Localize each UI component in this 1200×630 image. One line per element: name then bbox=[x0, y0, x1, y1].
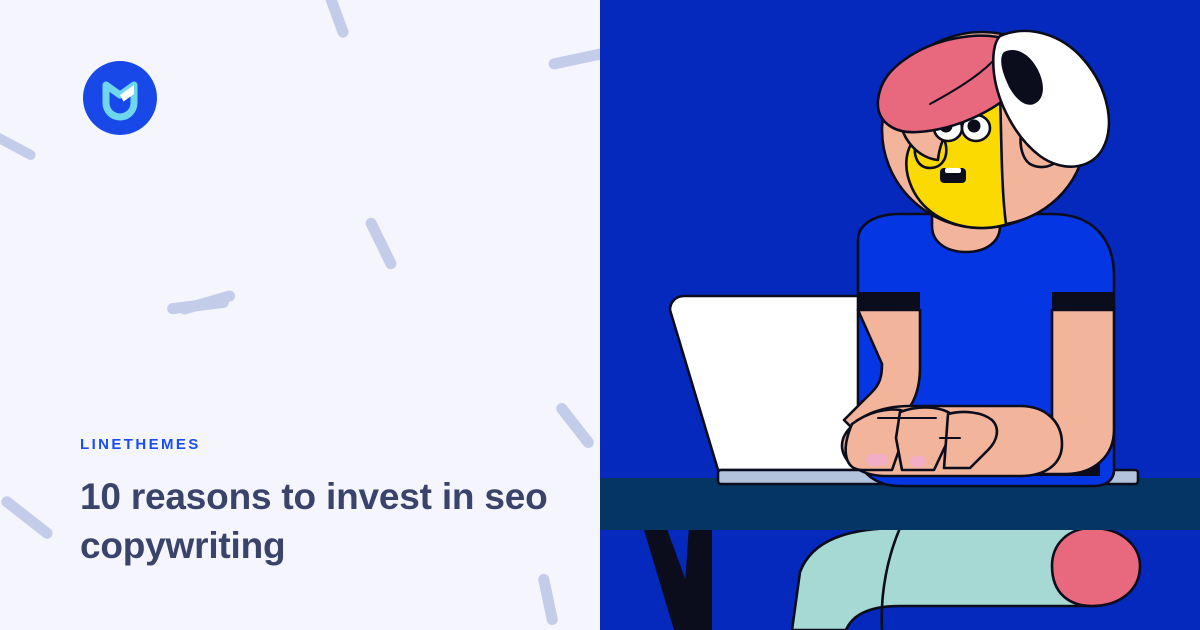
person-shoe bbox=[1052, 528, 1140, 606]
social-share-card: LINETHEMES 10 reasons to invest in seo c… bbox=[0, 0, 1200, 630]
person-hands bbox=[842, 406, 1062, 476]
illustration-panel bbox=[600, 0, 1200, 630]
headline-block: LINETHEMES 10 reasons to invest in seo c… bbox=[80, 437, 550, 570]
dash-top-right bbox=[548, 45, 600, 71]
brand-eyebrow-label: LINETHEMES bbox=[80, 437, 550, 452]
dash-lower-center bbox=[167, 296, 230, 314]
page-title: 10 reasons to invest in seo copywriting bbox=[80, 472, 550, 570]
dash-mid-center bbox=[364, 216, 398, 271]
man-typing-on-laptop-illustration bbox=[600, 0, 1200, 630]
dash-top-left-edge bbox=[0, 128, 37, 161]
dash-top-center bbox=[321, 0, 350, 39]
dash-mid-right bbox=[554, 401, 596, 450]
dash-bottom-center bbox=[537, 573, 559, 626]
left-content-panel: LINETHEMES 10 reasons to invest in seo c… bbox=[0, 0, 600, 630]
mouth bbox=[940, 168, 966, 183]
dash-bottom-left bbox=[0, 494, 55, 541]
linethemes-logo-icon[interactable] bbox=[83, 61, 157, 135]
